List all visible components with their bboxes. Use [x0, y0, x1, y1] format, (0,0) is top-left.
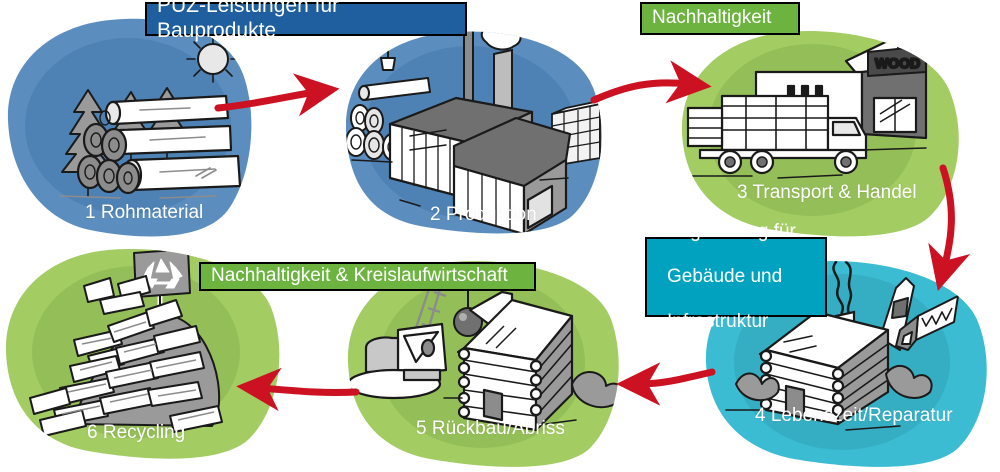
arrow-3-to-4 — [943, 168, 951, 268]
banner-nachhaltigkeit[interactable]: Nachhaltigkeit — [640, 2, 800, 35]
banner-nachhaltigkeit-kreislaufwirtschaft[interactable]: Nachhaltigkeit & Kreislaufwirtschaft — [199, 262, 536, 291]
wood-sign-text: WOOD — [875, 55, 920, 71]
stage-label-3: 3 Transport & Handel — [737, 182, 917, 204]
banner-kreislauf-text: Nachhaltigkeit & Kreislaufwirtschaft — [201, 265, 518, 287]
stage-blob-2-produktion[interactable] — [346, 22, 614, 234]
banner-nachhaltigkeit-text: Nachhaltigkeit — [642, 7, 781, 29]
stage-label-1: 1 Rohmaterial — [85, 202, 203, 224]
lifecycle-diagram: . — [0, 0, 1000, 472]
banner-engineering-line-1: Engineering für — [657, 221, 806, 243]
arrow-2-to-3 — [594, 83, 688, 100]
arrow-5-to-6 — [260, 388, 356, 393]
banner-puez-leistungen[interactable]: PÜZ-Leistungen für Bauprodukte — [145, 2, 467, 36]
stage-blob-3-transport-handel[interactable]: WOOD — [682, 31, 959, 236]
banner-puez-text: PÜZ-Leistungen für Bauprodukte — [147, 0, 465, 44]
stage-label-2: 2 Produktion — [430, 204, 537, 226]
banner-engineering[interactable]: Engineering für Gebäude und Infrastruktu… — [645, 237, 827, 317]
svg-text:.: . — [0, 0, 4, 4]
stage-label-6: 6 Recycling — [87, 422, 185, 444]
diagram-canvas: . — [0, 0, 1000, 472]
banner-engineering-line-3: Infrastruktur — [657, 311, 806, 333]
stage-label-5: 5 Rückbau/Abriss — [416, 418, 565, 440]
arrow-4-to-5 — [640, 372, 712, 384]
banner-engineering-line-2: Gebäude und — [657, 266, 806, 288]
stage-label-4: 4 Lebenszeit/Reparatur — [755, 405, 953, 427]
banner-engineering-text: Engineering für Gebäude und Infrastruktu… — [647, 221, 816, 333]
